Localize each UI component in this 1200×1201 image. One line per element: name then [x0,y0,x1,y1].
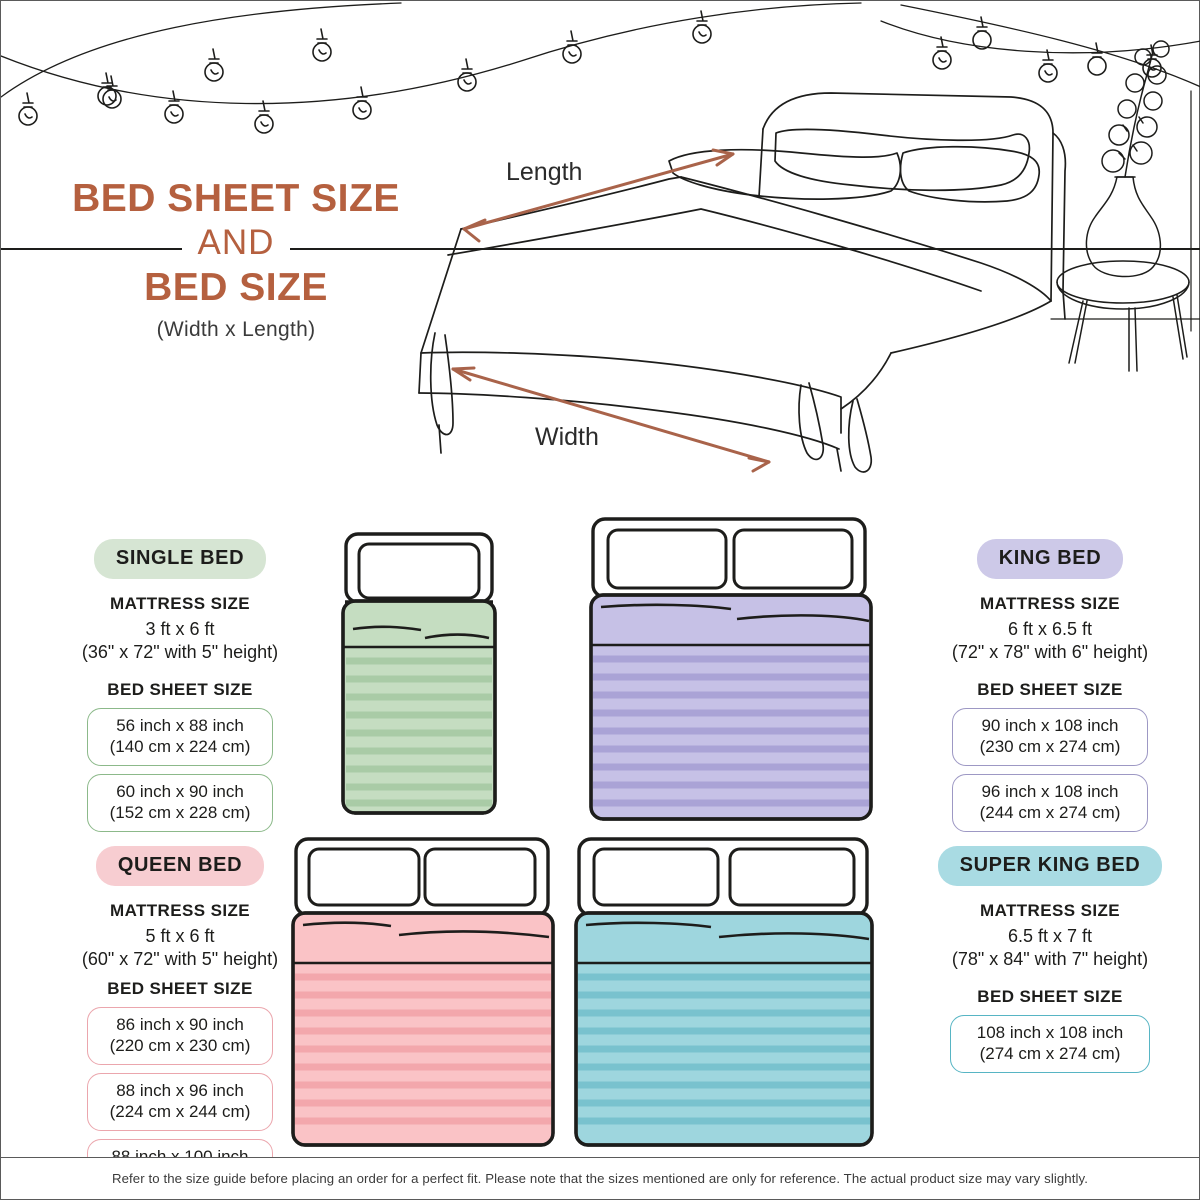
length-arrow-label: Length [506,158,582,187]
spec-column-super-king: SUPER KING BED MATTRESS SIZE 6.5 ft x 7 … [919,846,1181,1073]
mattress-size-label-king: MATTRESS SIZE [919,594,1181,614]
sheet-option-single-2: 60 inch x 90 inch (152 cm x 228 cm) [87,774,273,832]
badge-king-bed: KING BED [977,539,1124,579]
footer-disclaimer-text: Refer to the size guide before placing a… [112,1171,1088,1186]
badge-queen-bed: QUEEN BED [96,846,264,886]
width-arrow-label: Width [535,423,599,452]
sheet-inch-king-2: 96 inch x 108 inch [957,781,1143,802]
mattress-ft-super-king: 6.5 ft x 7 ft [919,925,1181,948]
sheet-inch-king-1: 90 inch x 108 inch [957,715,1143,736]
string-lights-icon [1,3,1200,133]
super-king-bed-graphic [576,839,872,1145]
sheet-cm-king-1: (230 cm x 274 cm) [957,736,1143,757]
page-subtitle: (Width x Length) [41,318,431,342]
single-bed-graphic [343,534,495,813]
spec-column-king: KING BED MATTRESS SIZE 6 ft x 6.5 ft (72… [919,539,1181,832]
badge-single-bed: SINGLE BED [94,539,266,579]
mattress-in-king: (72" x 78" with 6" height) [919,641,1181,664]
mattress-in-single: (36" x 72" with 5" height) [49,641,311,664]
mattress-size-label-single: MATTRESS SIZE [49,594,311,614]
spec-column-queen: QUEEN BED MATTRESS SIZE 5 ft x 6 ft (60"… [49,846,311,1197]
sheet-option-king-1: 90 inch x 108 inch (230 cm x 274 cm) [952,708,1148,766]
length-arrow [464,150,733,241]
page-title-conjunction: AND [182,220,291,267]
mattress-ft-queen: 5 ft x 6 ft [49,925,311,948]
sheet-inch-queen-2: 88 inch x 96 inch [92,1080,268,1101]
bed-sheet-size-label-single: BED SHEET SIZE [49,680,311,700]
width-arrow [453,368,769,471]
mattress-size-label-super-king: MATTRESS SIZE [919,901,1181,921]
mattress-ft-king: 6 ft x 6.5 ft [919,618,1181,641]
sheet-option-king-2: 96 inch x 108 inch (244 cm x 274 cm) [952,774,1148,832]
sheet-inch-queen-1: 86 inch x 90 inch [92,1014,268,1035]
footer-disclaimer-bar: Refer to the size guide before placing a… [1,1157,1199,1199]
sheet-cm-king-2: (244 cm x 274 cm) [957,802,1143,823]
mattress-ft-single: 3 ft x 6 ft [49,618,311,641]
sheet-option-single-1: 56 inch x 88 inch (140 cm x 224 cm) [87,708,273,766]
queen-bed-graphic [293,839,553,1145]
mattress-size-label-queen: MATTRESS SIZE [49,901,311,921]
spec-column-single: SINGLE BED MATTRESS SIZE 3 ft x 6 ft (36… [49,539,311,832]
bed-sheet-size-label-super-king: BED SHEET SIZE [919,987,1181,1007]
sheet-inch-super-king-1: 108 inch x 108 inch [955,1022,1145,1043]
sheet-cm-queen-1: (220 cm x 230 cm) [92,1035,268,1056]
sheet-inch-single-1: 56 inch x 88 inch [92,715,268,736]
mattress-in-super-king: (78" x 84" with 7" height) [919,948,1181,971]
page-title-line1: BED SHEET SIZE [41,179,431,220]
sheet-cm-queen-2: (224 cm x 244 cm) [92,1101,268,1122]
sheet-cm-single-1: (140 cm x 224 cm) [92,736,268,757]
sheet-inch-single-2: 60 inch x 90 inch [92,781,268,802]
king-bed-graphic [591,519,871,819]
badge-super-king-bed: SUPER KING BED [938,846,1163,886]
bed-sheet-size-label-king: BED SHEET SIZE [919,680,1181,700]
page-title-line2: BED SIZE [41,266,431,310]
sheet-cm-super-king-1: (274 cm x 274 cm) [955,1043,1145,1064]
infographic-page: BED SHEET SIZE AND BED SIZE (Width x Len… [0,0,1200,1200]
sheet-cm-single-2: (152 cm x 228 cm) [92,802,268,823]
title-block: BED SHEET SIZE AND BED SIZE (Width x Len… [41,179,431,342]
side-table-plant-illustration [1057,41,1191,371]
sheet-option-queen-2: 88 inch x 96 inch (224 cm x 244 cm) [87,1073,273,1131]
sheet-option-queen-1: 86 inch x 90 inch (220 cm x 230 cm) [87,1007,273,1065]
bed-sheet-size-label-queen: BED SHEET SIZE [49,979,311,999]
hero-bed-illustration [419,93,1065,472]
mattress-in-queen: (60" x 72" with 5" height) [49,948,311,971]
sheet-option-super-king-1: 108 inch x 108 inch (274 cm x 274 cm) [950,1015,1150,1073]
